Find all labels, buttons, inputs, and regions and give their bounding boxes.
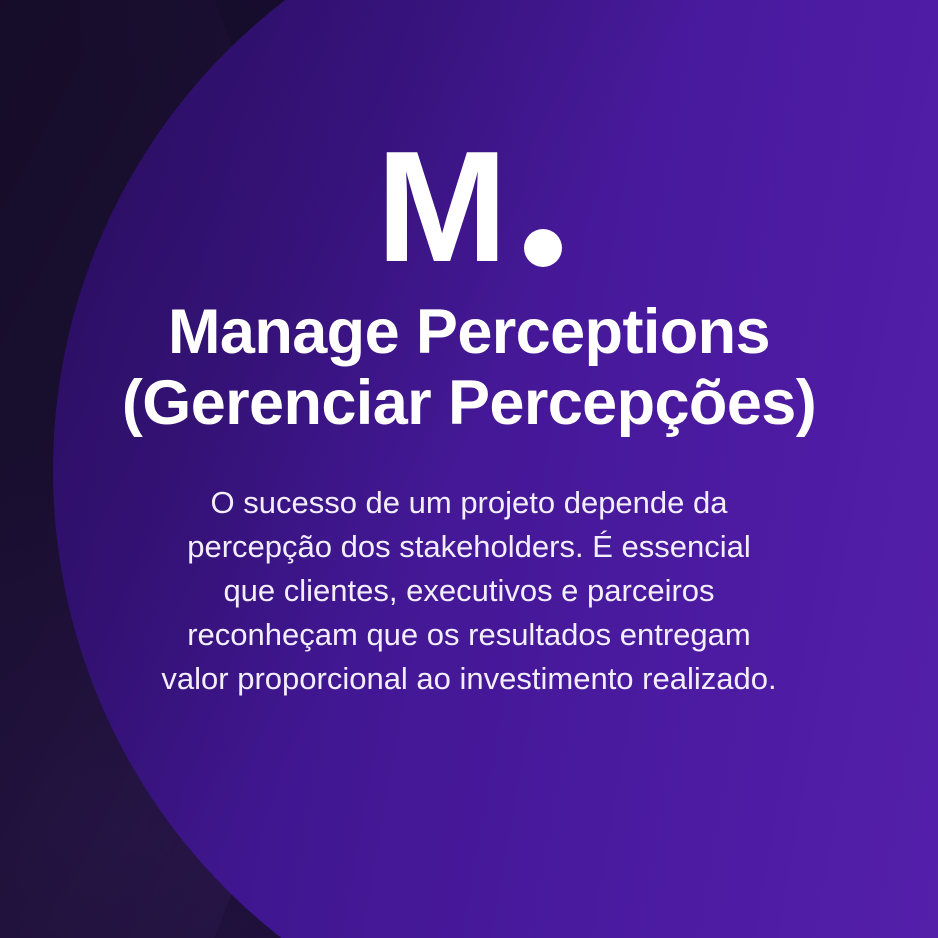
logo-mark: M [376,143,562,273]
logo-period-dot-icon [524,229,562,267]
page-title-line-2: (Gerenciar Percepções) [122,368,816,439]
body-line-2: percepção dos stakeholders. É essencial [161,525,776,569]
body-line-1: O sucesso de um projeto depende da [161,481,776,525]
page-title: Manage Perceptions (Gerenciar Percepções… [108,297,830,439]
slide-card: M Manage Perceptions (Gerenciar Percepçõ… [0,0,938,938]
page-title-line-1: Manage Perceptions [122,297,816,368]
body-line-3: que clientes, executivos e parceiros [161,569,776,613]
body-line-4: reconheçam que os resultados entregam [161,613,776,657]
body-line-5: valor proporcional ao investimento reali… [161,657,776,701]
logo-letter: M [376,143,505,273]
slide-content: M Manage Perceptions (Gerenciar Percepçõ… [0,0,938,938]
body-paragraph: O sucesso de um projeto depende da perce… [161,481,776,701]
